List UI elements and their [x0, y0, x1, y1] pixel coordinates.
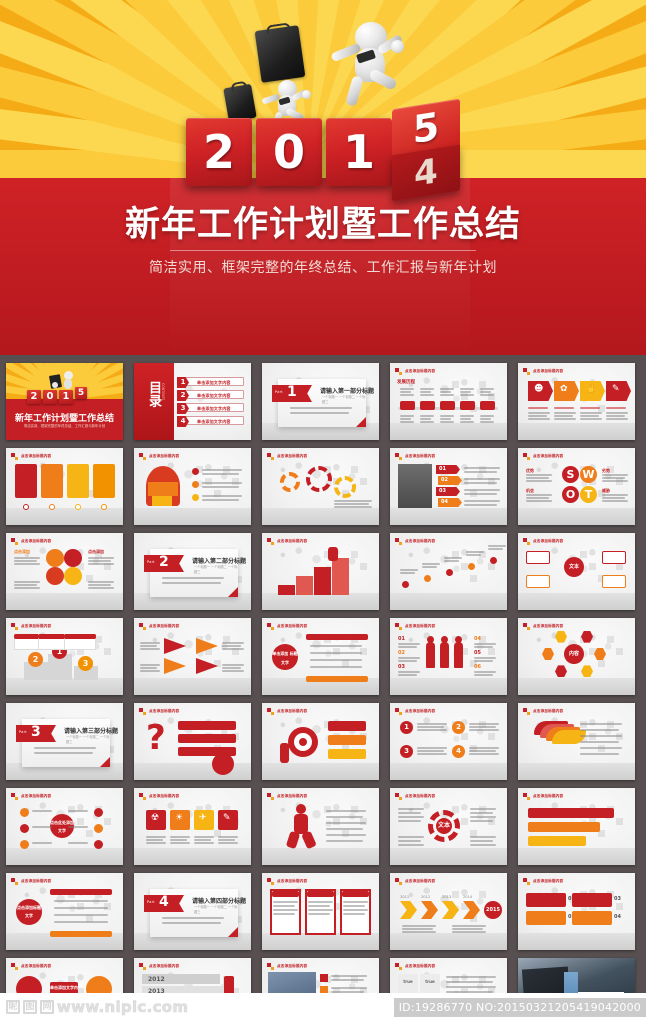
slide-header-label: 点击添加标题内容: [533, 794, 563, 799]
timeline-tag[interactable]: [440, 401, 455, 410]
icon-arrow-shape[interactable]: ✋: [580, 381, 605, 401]
text-line: [526, 494, 552, 496]
brand-mark-icon: [139, 963, 146, 970]
text-line: [14, 581, 40, 583]
icon-tile[interactable]: ☀: [170, 810, 190, 830]
text-line: [526, 477, 549, 479]
brand-mark-icon: [395, 878, 402, 885]
text-line: [528, 415, 547, 417]
badge-list-row[interactable]: [54, 921, 108, 923]
text-line: [580, 735, 622, 737]
brand-mark-orange: [399, 967, 403, 971]
catalog-item-label: 单击添加文字内容: [197, 380, 231, 386]
catalog-item-label: 单击添加文字内容: [197, 419, 231, 425]
curve-node[interactable]: [490, 557, 497, 564]
text-line: [170, 836, 190, 838]
part-label: Part: [19, 730, 27, 734]
brand-mark-icon: [267, 793, 274, 800]
text-line: [308, 901, 333, 903]
slide-header-label: 点击添加标题内容: [405, 369, 435, 374]
brand-mark-orange: [399, 457, 403, 461]
text-line: [140, 648, 160, 650]
text-line: [398, 840, 421, 842]
list-header-bar: [306, 634, 368, 640]
slide-header-label: 点击添加标题内容: [405, 794, 435, 799]
slide-header: 点击添加标题内容: [11, 963, 51, 970]
brand-mark-icon: [395, 963, 402, 970]
slide-thumbnail-10[interactable]: 点击添加标题内容SWOT优势劣势机会威胁: [518, 448, 635, 525]
tile-glyph-icon: ✎: [223, 813, 231, 823]
part-corner-accent: [356, 417, 366, 427]
text-line: [140, 645, 157, 647]
door-label-number: 03: [439, 488, 446, 494]
info-card[interactable]: [15, 464, 37, 498]
text-line: [554, 415, 573, 417]
text-line: [146, 839, 163, 841]
step-number: 4: [452, 745, 465, 758]
text-line: [474, 657, 496, 659]
mini-body: [64, 379, 72, 389]
text-line: [88, 581, 114, 583]
text-line: [326, 810, 366, 812]
text-line: [580, 415, 599, 417]
pinwheel-petal[interactable]: [64, 567, 82, 585]
runner-body: [294, 814, 308, 834]
text-line: [32, 842, 52, 844]
slide-thumbnail-14[interactable]: 点击添加标题内容: [390, 533, 507, 610]
badge-list-row[interactable]: [54, 900, 108, 902]
timeline-tag[interactable]: [460, 401, 475, 410]
text-line: [68, 810, 88, 812]
slide-thumbnail-15[interactable]: 点击添加标题内容文本: [518, 533, 635, 610]
timeline-tag[interactable]: [480, 401, 495, 410]
decorative-square: [616, 818, 623, 825]
slide-thumbnail-29[interactable]: 点击添加标题内容文本: [390, 788, 507, 865]
target-bull-icon: [299, 738, 307, 746]
part-number: 4: [159, 894, 169, 910]
sunburst-background: [0, 0, 646, 185]
text-line: [580, 729, 619, 731]
text-line: [400, 572, 415, 574]
text-line: [469, 729, 499, 731]
text-line: [343, 913, 365, 915]
text-line: [606, 418, 628, 420]
slide-thumbnail-17[interactable]: 点击添加标题内容: [134, 618, 251, 695]
tile-glyph-icon: ✈: [199, 813, 207, 823]
text-line: [420, 391, 431, 393]
curve-node[interactable]: [468, 563, 475, 570]
text-line: [422, 566, 437, 568]
text-line: [470, 820, 493, 822]
chevron-year: 2013: [442, 895, 451, 899]
fold-block[interactable]: [526, 911, 566, 925]
mini-year-cube: 2: [27, 390, 41, 404]
text-line: [470, 836, 496, 838]
people-num-label: 01: [398, 636, 405, 642]
catalog-item[interactable]: 3单击添加文字内容: [180, 403, 244, 412]
slide-thumbnail-28[interactable]: 点击添加标题内容: [262, 788, 379, 865]
decorative-square: [461, 733, 468, 740]
text-line: [480, 388, 494, 390]
logo-char-1: 图: [23, 1000, 37, 1014]
timeline-tag[interactable]: [420, 401, 435, 410]
chevron-final-badge: 2015: [484, 901, 502, 919]
brand-mark-icon: [523, 708, 530, 715]
link-box[interactable]: [602, 575, 626, 588]
link-box[interactable]: [526, 551, 550, 564]
pinwheel-petal[interactable]: [46, 549, 64, 567]
text-line: [420, 394, 434, 396]
text-line: [480, 421, 494, 423]
slide-thumbnail-5[interactable]: 点击添加标题内容☻✿✋✎: [518, 363, 635, 440]
content-tile: true: [420, 974, 440, 995]
text-line: [602, 500, 628, 502]
icon-arrow-shape[interactable]: ☻: [528, 381, 553, 401]
fold-block[interactable]: [572, 893, 612, 907]
slide-thumbnail-26[interactable]: 点击添加标题内容点击此处添加文字: [6, 788, 123, 865]
text-line: [480, 391, 491, 393]
thumbnail-row: 点击添加标题内容点击添加点击添加Part2请输入第二部分标题一个标题一 一个标题…: [0, 533, 646, 618]
hero-title: 新年工作计划暨工作总结: [0, 196, 646, 247]
bullet-dot: [192, 481, 199, 488]
text-line: [480, 418, 491, 420]
fold-block[interactable]: [572, 911, 612, 925]
slide-thumbnail-27[interactable]: 点击添加标题内容☢☀✈✎: [134, 788, 251, 865]
decorative-square: [86, 830, 93, 837]
slide-thumbnail-23[interactable]: 点击添加标题内容: [262, 703, 379, 780]
chevron-year: 2014: [463, 895, 472, 899]
door-label-chip[interactable]: 03: [436, 487, 460, 496]
slide-header: 点击添加标题内容: [395, 368, 435, 375]
ribbon-bar[interactable]: [528, 836, 586, 846]
slide-thumbnail-12[interactable]: Part2请输入第二部分标题一个标题一 一个标题二 一个标题三: [134, 533, 251, 610]
text-line: [194, 839, 211, 841]
brand-mark-icon: [395, 708, 402, 715]
year-cube-flip: 5 4: [392, 104, 460, 202]
thumbnail-row: 点击添加标题内容213点击添加标题内容点击添加标题内容单击添加 标题文字点击添加…: [0, 618, 646, 703]
decorative-square: [461, 563, 468, 570]
catalog-item[interactable]: 1单击添加文字内容: [180, 377, 244, 386]
list-row[interactable]: [310, 645, 362, 647]
timeline-tag[interactable]: [400, 401, 415, 410]
text-line: [170, 842, 190, 844]
curve-node[interactable]: [402, 581, 409, 588]
text-line: [417, 726, 444, 728]
icon-tile[interactable]: ☢: [146, 810, 166, 830]
part-number: 2: [159, 554, 169, 570]
text-line: [602, 497, 625, 499]
text-line: [460, 418, 471, 420]
text-line: [602, 477, 625, 479]
slide-thumbnail-1[interactable]: 2015新年工作计划暨工作总结简洁实用、框架完整的年终总结、工作汇报与新年计划: [6, 363, 123, 440]
ribbon-bar[interactable]: [528, 822, 600, 832]
text-line: [88, 563, 114, 565]
text-line: [14, 557, 40, 559]
link-box[interactable]: [602, 551, 626, 564]
text-line: [474, 660, 493, 662]
target-bar[interactable]: [328, 749, 366, 759]
decorative-square: [616, 903, 623, 910]
slide-thumbnail-7[interactable]: 点击添加标题内容: [134, 448, 251, 525]
swot-circle-o: O: [562, 486, 579, 503]
spoke-node[interactable]: [20, 840, 29, 849]
text-line: [480, 415, 494, 417]
text-line: [88, 557, 114, 559]
text-line: [222, 670, 244, 672]
text-line: [417, 729, 447, 731]
text-line: [398, 646, 417, 648]
text-line: [202, 482, 242, 484]
slide-thumbnail-13[interactable]: 点击添加标题内容: [262, 533, 379, 610]
brand-mark-icon: [11, 878, 18, 885]
slide-thumbnail-34[interactable]: 点击添加标题内容20112012201320142015: [390, 873, 507, 950]
text-line: [580, 412, 602, 414]
decorative-square: [351, 551, 358, 558]
slide-floor: [518, 678, 635, 695]
text-line: [326, 834, 366, 836]
text-line: [464, 467, 500, 469]
text-line: [162, 582, 221, 584]
question-bar[interactable]: [178, 721, 236, 730]
decorative-square: [452, 381, 459, 388]
text-line: [273, 905, 295, 907]
decorative-square: [616, 563, 623, 570]
question-bar[interactable]: [178, 734, 236, 743]
podium-rank: 3: [78, 656, 93, 671]
text-line: [440, 421, 454, 423]
text-line: [331, 975, 367, 977]
text-line: [400, 569, 418, 571]
text-line: [446, 976, 496, 978]
text-line: [526, 500, 552, 502]
spoke-node[interactable]: [20, 824, 29, 833]
slide-thumbnail-33[interactable]: 点击添加标题内容: [262, 873, 379, 950]
slide-thumbnail-25[interactable]: 点击添加标题内容: [518, 703, 635, 780]
slide-thumbnail-8[interactable]: 点击添加标题内容: [262, 448, 379, 525]
thumbnail-row: 2015新年工作计划暨工作总结简洁实用、框架完整的年终总结、工作汇报与新年计划目…: [0, 363, 646, 448]
part-card: Part1请输入第一部分标题一个标题一 一个标题二 一个标题三: [278, 379, 366, 427]
text-line: [88, 587, 114, 589]
slide-thumbnail-24[interactable]: 点击添加标题内容1234: [390, 703, 507, 780]
caption-line: [554, 407, 574, 409]
slide-thumbnail-2[interactable]: 目录CONTENTS1单击添加文字内容2单击添加文字内容3单击添加文字内容4单击…: [134, 363, 251, 440]
catalog-item[interactable]: 4单击添加文字内容: [180, 416, 244, 425]
slide-thumbnail-32[interactable]: Part4请输入第四部分标题一个标题一 一个标题二 一个标题三: [134, 873, 251, 950]
mini-cover-subtitle: 简洁实用、框架完整的年终总结、工作汇报与新年计划: [6, 423, 123, 428]
slide-thumbnail-20[interactable]: 点击添加标题内容内容: [518, 618, 635, 695]
slide-header-label: 点击添加标题内容: [149, 624, 179, 629]
gear-center-text: 文本: [436, 818, 452, 834]
text-line: [334, 500, 372, 502]
badge-list-footer: [50, 931, 112, 937]
slide-thumbnail-18[interactable]: 点击添加标题内容单击添加 标题文字: [262, 618, 379, 695]
link-box[interactable]: [526, 575, 550, 588]
brand-mark-icon: [523, 453, 530, 460]
slide-header-label: 点击添加标题内容: [533, 624, 563, 629]
photo-list-icon: [320, 974, 328, 982]
curve-node[interactable]: [424, 575, 431, 582]
target-bar[interactable]: [328, 721, 366, 731]
list-row[interactable]: [310, 666, 362, 668]
icon-tile[interactable]: ✈: [194, 810, 214, 830]
decorative-square: [95, 636, 102, 643]
icon-arrow-shape[interactable]: ✎: [606, 381, 631, 401]
pinwheel-petal[interactable]: [64, 549, 82, 567]
slide-header: 点击添加标题内容: [395, 963, 435, 970]
brand-mark-orange: [271, 542, 275, 546]
badge-list-row[interactable]: [54, 914, 108, 916]
info-card[interactable]: [41, 464, 63, 498]
text-line: [464, 500, 500, 502]
mini-figures: [46, 371, 82, 393]
target-bar[interactable]: [328, 735, 366, 745]
part-flag: Part3: [16, 725, 56, 742]
slide-header-label: 点击添加标题内容: [533, 879, 563, 884]
year-cube-flip-bottom: 4: [392, 145, 460, 202]
decorative-square: [616, 648, 623, 655]
slide-header-label: 点击添加标题内容: [21, 624, 51, 629]
text-line: [464, 471, 497, 473]
panel-header: [342, 891, 369, 897]
door-label-chip[interactable]: 01: [436, 465, 460, 474]
brand-mark-orange: [271, 627, 275, 631]
badge-list-row[interactable]: [54, 907, 108, 909]
catalog-item[interactable]: 2单击添加文字内容: [180, 390, 244, 399]
step-number: 3: [400, 745, 413, 758]
slide-header: 点击添加标题内容: [523, 793, 563, 800]
slide-thumbnail-4[interactable]: 点击添加标题内容发展历程: [390, 363, 507, 440]
decorative-square: [104, 818, 111, 825]
door-label-chip[interactable]: 04: [438, 498, 462, 507]
text-line: [526, 474, 552, 476]
text-line: [580, 741, 619, 743]
pinwheel-petal[interactable]: [46, 567, 64, 585]
slide-floor: [6, 848, 123, 865]
brand-mark-icon: [395, 453, 402, 460]
slide-thumbnail-11[interactable]: 点击添加标题内容点击添加点击添加: [6, 533, 123, 610]
slide-floor: [518, 593, 635, 610]
slide-thumbnail-9[interactable]: 点击添加标题内容01020304: [390, 448, 507, 525]
list-row[interactable]: [310, 659, 362, 661]
info-card[interactable]: [67, 464, 89, 498]
slide-header-label: 点击添加标题内容: [405, 454, 435, 459]
spoke-node[interactable]: [94, 808, 103, 817]
preview-page: 2 0 1 5 4 新年工作计划暨工作总结 简洁实用、框架完整的年终总结、工作汇…: [0, 0, 646, 1024]
runner-head: [296, 804, 306, 814]
text-line: [452, 928, 483, 930]
part-corner-accent: [228, 927, 238, 937]
arrow-glyph-icon: ☻: [534, 384, 543, 394]
slide-thumbnail-19[interactable]: 点击添加标题内容010203040506: [390, 618, 507, 695]
card-node-dot: [23, 504, 29, 510]
text-line: [218, 839, 235, 841]
list-row[interactable]: [310, 652, 362, 654]
slide-header-label: 点击添加标题内容: [405, 709, 435, 714]
mini-cover: 2015新年工作计划暨工作总结简洁实用、框架完整的年终总结、工作汇报与新年计划: [6, 363, 123, 440]
slide-header-label: 点击添加标题内容: [21, 964, 51, 969]
slide-floor: [262, 763, 379, 780]
slide-floor: [262, 593, 379, 610]
people-num-label: 03: [398, 664, 405, 670]
slide-header: 点击添加标题内容: [267, 538, 307, 545]
step-number: 1: [400, 721, 413, 734]
slide-thumbnail-30[interactable]: 点击添加标题内容: [518, 788, 635, 865]
stair-step: [314, 567, 331, 595]
part-label: Part: [147, 560, 155, 564]
brand-mark-orange: [527, 882, 531, 886]
text-line: [452, 931, 486, 933]
info-card[interactable]: [93, 464, 115, 498]
icon-arrow-shape[interactable]: ✿: [554, 381, 579, 401]
slide-thumbnail-22[interactable]: 点击添加标题内容?: [134, 703, 251, 780]
thumbnail-row: Part3请输入第三部分标题一个标题一 一个标题二 一个标题三点击添加标题内容?…: [0, 703, 646, 788]
slide-thumbnail-16[interactable]: 点击添加标题内容213: [6, 618, 123, 695]
person-head: [427, 636, 434, 643]
curve-node[interactable]: [446, 569, 453, 576]
brand-mark-orange: [399, 372, 403, 376]
text-line: [140, 642, 160, 644]
ribbon-bar[interactable]: [528, 808, 614, 818]
brand-mark-icon: [523, 793, 530, 800]
slide-thumbnail-21[interactable]: Part3请输入第三部分标题一个标题一 一个标题二 一个标题三: [6, 703, 123, 780]
podium-card-header: [64, 634, 96, 639]
slide-header-label: 点击添加标题内容: [21, 539, 51, 544]
slide-header: 点击添加标题内容: [267, 878, 307, 885]
person-head: [441, 636, 448, 643]
slide-floor: [390, 593, 507, 610]
slide-thumbnail-6[interactable]: 点击添加标题内容: [6, 448, 123, 525]
text-line: [34, 752, 93, 754]
brand-mark-icon: [523, 368, 530, 375]
slide-thumbnail-35[interactable]: 点击添加标题内容01020304: [518, 873, 635, 950]
slide-header-label: 点击添加标题内容: [533, 454, 563, 459]
text-line: [466, 551, 484, 553]
slide-header: 点击添加标题内容: [11, 878, 51, 885]
part-number: 3: [31, 724, 41, 740]
door-label-chip[interactable]: 02: [438, 476, 462, 485]
spoke-node[interactable]: [20, 808, 29, 817]
fold-block[interactable]: [526, 893, 566, 907]
brand-mark-orange: [143, 457, 147, 461]
text-line: [400, 421, 414, 423]
card-node-dot: [75, 504, 81, 510]
tile-glyph-icon: ☀: [175, 813, 183, 823]
brand-mark-orange: [143, 967, 147, 971]
text-line: [290, 412, 349, 414]
brand-mark-icon: [395, 623, 402, 630]
spoke-node[interactable]: [94, 840, 103, 849]
brand-mark-icon: [11, 538, 18, 545]
slide-header: 点击添加标题内容: [267, 793, 307, 800]
slide-header-label: 点击添加标题内容: [149, 454, 179, 459]
text-line: [398, 836, 424, 838]
image-id-label: ID:19286770 NO:20150321205419042000: [394, 998, 646, 1017]
slide-thumbnail-3[interactable]: Part1请输入第一部分标题一个标题一 一个标题二 一个标题三: [262, 363, 379, 440]
slide-thumbnail-31[interactable]: 点击添加标题内容点击添加标题文字: [6, 873, 123, 950]
caption-line: [606, 407, 626, 409]
stair-step: [332, 558, 349, 595]
text-line: [218, 836, 238, 838]
text-line: [602, 494, 628, 496]
text-line: [470, 816, 496, 818]
spoke-node[interactable]: [94, 824, 103, 833]
text-line: [402, 925, 436, 927]
arrow-glyph-icon: ✋: [586, 384, 597, 394]
text-line: [162, 577, 224, 579]
brand-mark-orange: [527, 712, 531, 716]
icon-tile[interactable]: ✎: [218, 810, 238, 830]
decorative-square: [360, 478, 367, 485]
